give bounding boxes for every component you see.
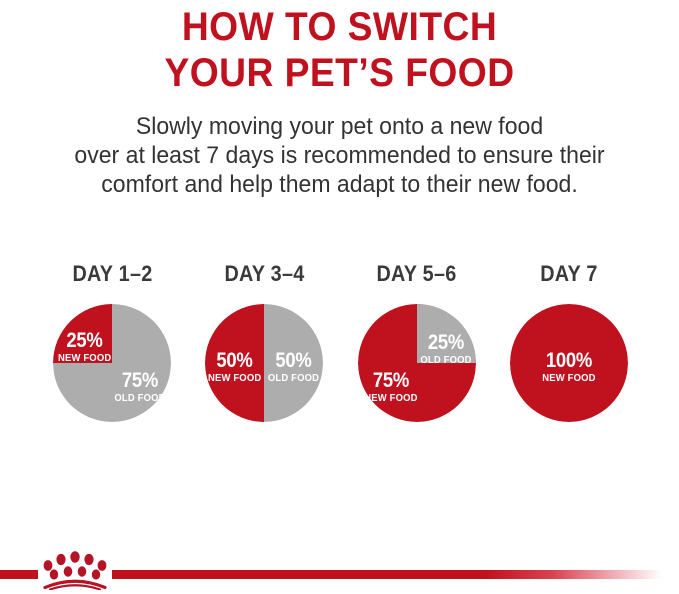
footer-rule-right: [112, 570, 679, 579]
pie-chart-day-3-4: DAY 3–4 50% NEW FOOD 50% OLD FOOD: [194, 262, 334, 422]
pie-graphic-day-1-2: 25% NEW FOOD 75% OLD FOOD: [53, 304, 171, 422]
footer-rule-left: [0, 570, 38, 579]
pie-svg-2: [205, 304, 323, 422]
day-label-1: DAY 1–2: [72, 262, 152, 286]
intro-line-1: Slowly moving your pet onto a new food: [19, 112, 659, 141]
intro-line-2: over at least 7 days is recommended to e…: [19, 141, 659, 170]
day-label-2: DAY 3–4: [224, 262, 304, 286]
pie-slice-new-food-1: [53, 304, 112, 363]
pie-chart-day-1-2: DAY 1–2 25% NEW FOOD 75% OLD FOOD: [42, 262, 182, 422]
intro-line-3: comfort and help them adapt to their new…: [19, 170, 659, 199]
intro-paragraph: Slowly moving your pet onto a new food o…: [0, 112, 679, 199]
royal-canin-crown-icon: [42, 550, 108, 590]
title-line-1: HOW TO SWITCH: [24, 4, 655, 50]
pie-slice-old-food-3: [417, 304, 476, 363]
pie-chart-day-5-6: DAY 5–6 25% OLD FOOD 75% NEW FOOD: [347, 262, 487, 422]
pie-chart-day-7: DAY 7 100% NEW FOOD: [499, 262, 639, 422]
pie-svg-3: [358, 304, 476, 422]
pie-svg-1: [53, 304, 171, 422]
pie-graphic-day-3-4: 50% NEW FOOD 50% OLD FOOD: [205, 304, 323, 422]
infographic-page: HOW TO SWITCH YOUR PET’S FOOD Slowly mov…: [0, 0, 679, 594]
pie-graphic-day-7: 100% NEW FOOD: [510, 304, 628, 422]
pie-slice-new-food-4: [510, 304, 628, 422]
day-label-3: DAY 5–6: [377, 262, 457, 286]
title-line-2: YOUR PET’S FOOD: [24, 50, 655, 96]
pie-slice-new-food-2: [205, 304, 264, 422]
pie-svg-4: [510, 304, 628, 422]
footer: [0, 542, 679, 594]
page-title: HOW TO SWITCH YOUR PET’S FOOD: [0, 0, 679, 96]
pie-chart-row: DAY 1–2 25% NEW FOOD 75% OLD FOOD DAY 3–…: [0, 262, 679, 422]
day-label-4: DAY 7: [540, 262, 598, 286]
pie-graphic-day-5-6: 25% OLD FOOD 75% NEW FOOD: [358, 304, 476, 422]
